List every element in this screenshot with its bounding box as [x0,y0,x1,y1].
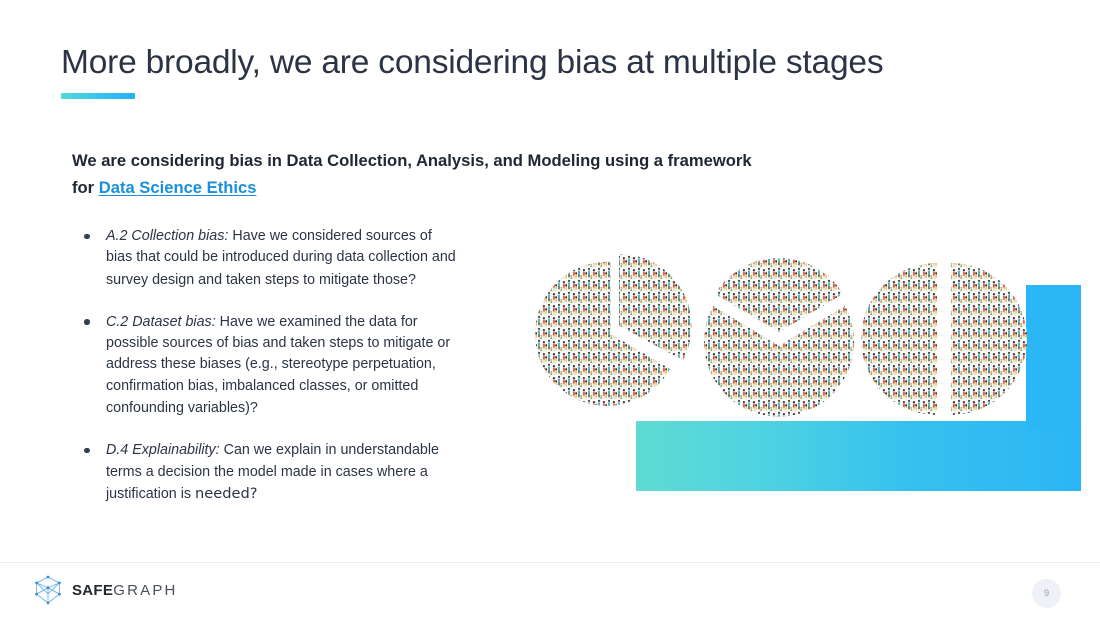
bar-horizontal [636,421,1081,491]
brand-wordmark: SAFEGRAPH [72,582,178,599]
title-accent-bar [61,93,135,99]
bullet-tail: needed? [195,485,257,502]
bullet-list: A.2 Collection bias: Have we considered … [80,226,460,505]
pie-chart-1 [533,252,713,427]
slide-canvas: More broadly, we are considering bias at… [0,0,1100,624]
bullet-lead: A.2 Collection bias: [106,228,228,244]
pie-chart-3 [853,252,1033,427]
data-science-ethics-link[interactable]: Data Science Ethics [99,178,257,197]
crowd-pie-charts-svg [533,252,1088,427]
list-item: D.4 Explainability: Can we explain in un… [80,440,460,505]
brand-name-light: GRAPH [113,582,177,599]
brand-name-bold: SAFE [72,582,113,599]
page-number-badge: 9 [1032,579,1061,608]
safegraph-hexagon-icon [33,575,63,605]
illustration [533,252,1088,502]
bullet-lead: C.2 Dataset bias: [106,314,216,330]
subtitle-line-2-prefix: for [72,178,99,197]
bullet-lead: D.4 Explainability: [106,442,220,458]
brand-logo: SAFEGRAPH [33,575,178,605]
bullet-dot-icon [84,234,90,240]
bullet-dot-icon [84,448,90,454]
list-item: A.2 Collection bias: Have we considered … [80,226,460,291]
subtitle: We are considering bias in Data Collecti… [72,147,902,201]
pie-chart-2 [698,252,863,427]
crowd-pie-charts [533,252,1088,427]
footer-divider [0,562,1100,563]
bullet-dot-icon [84,319,90,325]
list-item: C.2 Dataset bias: Have we examined the d… [80,312,460,419]
page-title: More broadly, we are considering bias at… [61,44,883,82]
subtitle-line-1: We are considering bias in Data Collecti… [72,151,752,170]
